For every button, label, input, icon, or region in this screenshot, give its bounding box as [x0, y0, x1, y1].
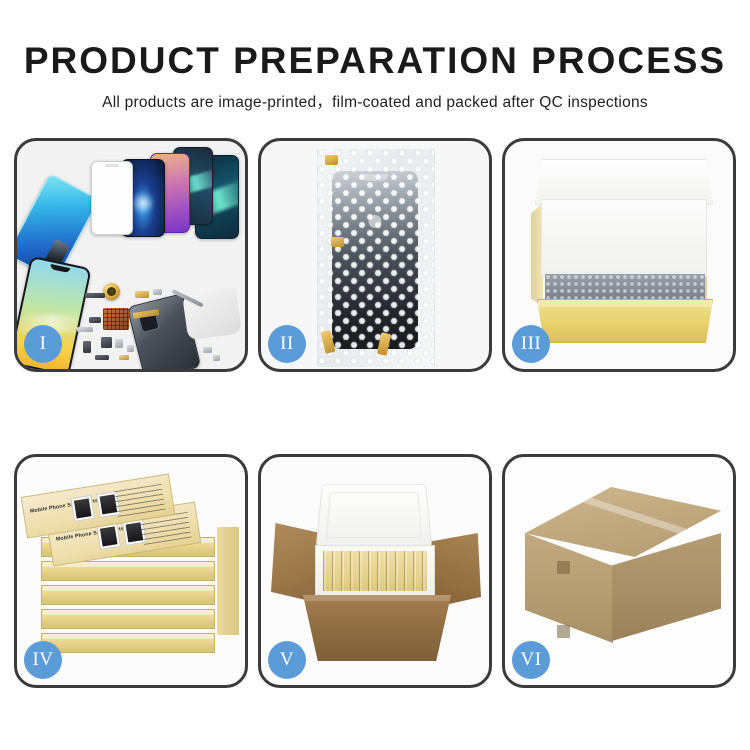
grey-foam-padding — [545, 274, 705, 302]
gold-camera-ring — [103, 283, 120, 300]
stack-side-face — [217, 527, 239, 635]
process-step-panel-3: III — [502, 138, 736, 372]
copper-mesh-pad — [103, 308, 129, 330]
component-chip — [115, 339, 123, 348]
component-chip — [135, 291, 149, 298]
step-badge-2: II — [268, 325, 306, 363]
box-front-panel — [537, 299, 713, 343]
stacked-box — [41, 585, 215, 605]
stacked-box — [41, 609, 215, 629]
box-print-window — [96, 523, 120, 550]
step-badge-6: VI — [512, 641, 550, 679]
component-chip — [119, 355, 129, 360]
component-screw — [203, 347, 212, 353]
component-chip — [95, 355, 109, 360]
process-step-panel-6: VI — [502, 454, 736, 688]
component-chip — [127, 345, 134, 352]
tape-tab — [331, 237, 344, 247]
tape-tab — [325, 155, 338, 165]
step-badge-1: I — [24, 325, 62, 363]
process-step-panel-1: I — [14, 138, 248, 372]
process-step-panel-4: Mobile Phone Spare Parts Mobile Phone Sp… — [14, 454, 248, 688]
page-subtitle: All products are image-printed，film-coat… — [0, 90, 750, 112]
component-chip — [83, 341, 91, 353]
component-chip — [101, 337, 112, 348]
tweezers-hand — [182, 287, 242, 340]
kraft-boxes-inside — [323, 551, 427, 591]
component-chip — [77, 327, 93, 332]
carton-staple-mark — [557, 625, 570, 638]
component-chip — [89, 317, 101, 323]
process-step-grid: I II — [14, 138, 736, 688]
foam-lid — [316, 484, 433, 548]
header: PRODUCT PREPARATION PROCESS All products… — [0, 0, 750, 112]
page-title: PRODUCT PREPARATION PROCESS — [0, 42, 750, 81]
product-preparation-infographic: PRODUCT PREPARATION PROCESS All products… — [0, 0, 750, 750]
component-chip — [85, 293, 105, 298]
process-step-panel-5: V — [258, 454, 492, 688]
step-badge-3: III — [512, 325, 550, 363]
box-print-window — [70, 495, 94, 522]
step-badge-4: IV — [24, 641, 62, 679]
tempered-glass-screen — [91, 161, 133, 235]
box-print-textlines — [114, 484, 165, 517]
step-badge-5: V — [268, 641, 306, 679]
carton-body — [303, 595, 451, 661]
white-foam-sheet — [541, 199, 707, 277]
bubble-wrap-bag — [317, 149, 435, 367]
stacked-box — [41, 633, 215, 653]
process-step-panel-2: II — [258, 138, 492, 372]
bubble-texture — [318, 149, 434, 367]
component-chip — [153, 289, 162, 295]
carton-staple-mark — [557, 561, 570, 574]
component-screw — [213, 355, 220, 361]
